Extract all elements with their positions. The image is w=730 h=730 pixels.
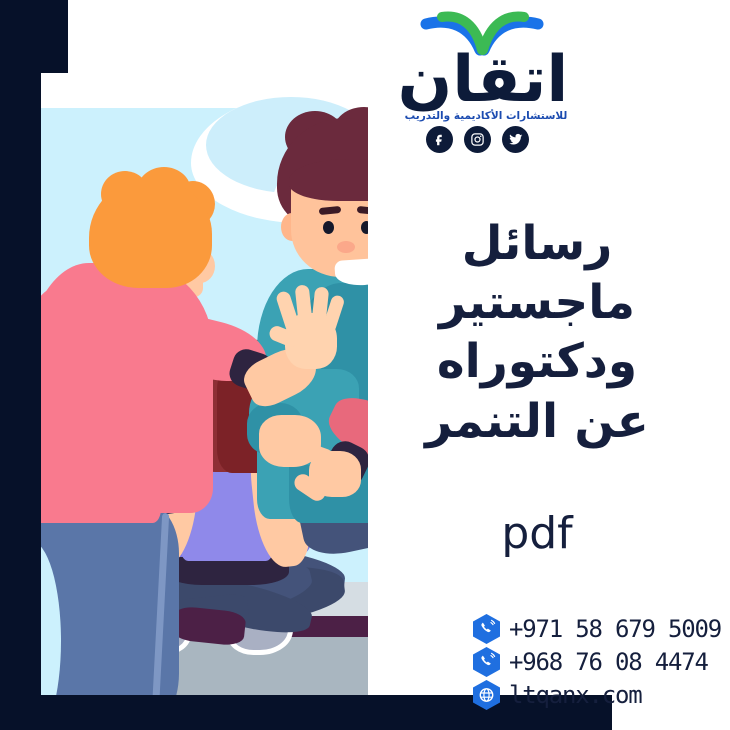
pink-boy-hair — [89, 178, 212, 288]
globe-icon — [473, 680, 500, 710]
logo-wordmark: اتقان — [368, 48, 598, 112]
contact-row-website[interactable]: ltqanx.com — [473, 678, 730, 711]
teal-boy-eye-left — [323, 221, 334, 234]
twitter-icon[interactable] — [502, 126, 529, 153]
facebook-icon[interactable] — [426, 126, 453, 153]
instagram-icon[interactable] — [464, 126, 491, 153]
phone-call-icon — [473, 647, 500, 677]
logo-subtitle: للاستشارات الأكاديمية والتدريب — [368, 110, 604, 122]
pink-boy-shoulder — [41, 285, 161, 523]
headline-line-2: ماجستير — [368, 273, 706, 332]
poster-text-column: اتقان للاستشارات الأكاديمية والتدريب — [368, 0, 730, 730]
bullying-scene-illustration — [41, 73, 368, 695]
teal-boy-eye-right — [361, 221, 368, 234]
page-title: رسائل ماجستير ودكتوراه عن التنمر — [368, 214, 706, 451]
navy-accent-top — [0, 0, 68, 73]
teal-boy-nose — [337, 241, 355, 253]
phone-number-2: +968 76 08 4474 — [509, 648, 708, 676]
headline-line-1: رسائل — [368, 214, 706, 273]
website-url: ltqanx.com — [509, 681, 642, 709]
phone-number-1: +971 58 679 5009 — [509, 615, 721, 643]
navy-accent-left — [0, 73, 41, 695]
headline-line-3: ودكتوراه — [368, 332, 706, 391]
brand-logo: اتقان للاستشارات الأكاديمية والتدريب — [368, 6, 730, 162]
poster-canvas: اتقان للاستشارات الأكاديمية والتدريب — [0, 0, 730, 730]
contact-row-phone-2[interactable]: +968 76 08 4474 — [473, 645, 730, 678]
contact-info: +971 58 679 5009 +968 76 08 4474 — [473, 612, 730, 711]
phone-call-icon — [473, 614, 500, 644]
format-label: pdf — [368, 508, 706, 559]
headline-line-4: عن التنمر — [368, 392, 706, 451]
social-links — [426, 126, 529, 153]
contact-row-phone-1[interactable]: +971 58 679 5009 — [473, 612, 730, 645]
